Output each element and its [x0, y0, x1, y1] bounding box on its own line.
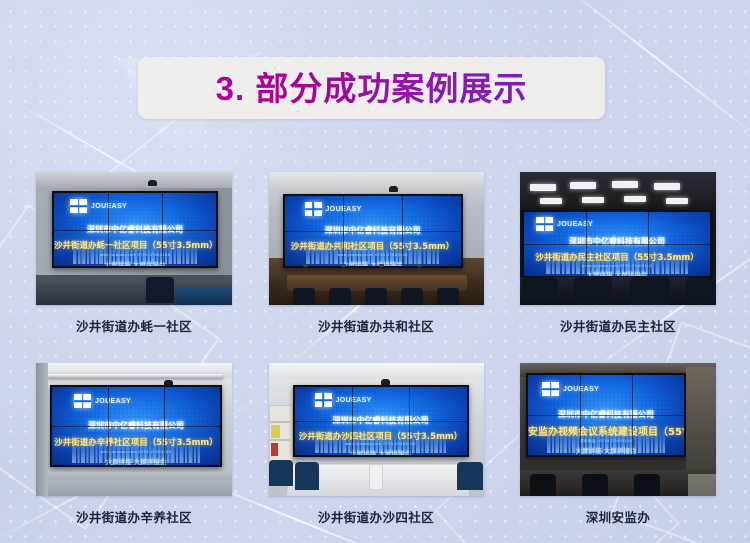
slide-contact: www.joueasy.com 0755-27403100 [52, 450, 220, 454]
chair [146, 277, 174, 303]
chair [437, 288, 459, 305]
chair [293, 288, 315, 305]
video-wall-slide: JOUEASY 深圳市中亿睿科技有限公司 安监办视频会议系统建设项目（55寸3.… [528, 375, 684, 455]
case-item[interactable]: JOUEASY 深圳市中亿睿科技有限公司 沙井街道办沙四社区项目（55寸3.5m… [269, 363, 484, 526]
case-photo[interactable]: JOUEASY 深圳市中亿睿科技有限公司 沙井街道办蚝一社区项目（55寸3.5m… [36, 172, 232, 305]
case-item[interactable]: JOUEASY 深圳市中亿睿科技有限公司 沙井街道办辛养社区项目（55寸3.5m… [36, 363, 232, 526]
brand-name: JOUEASY [557, 221, 593, 228]
chair [295, 462, 319, 490]
slide-project: 沙井街道办共和社区项目（55寸3.5mm） [285, 240, 461, 252]
video-wall-slide: JOUEASY 深圳市中亿睿科技有限公司 沙井街道办共和社区项目（55寸3.5m… [285, 196, 461, 266]
slide-tagline: 大屏拼接 大屏拼接会 [524, 269, 710, 276]
slide-project: 沙井街道办沙四社区项目（55寸3.5mm） [295, 430, 467, 442]
slide-contact: www.joueasy.com 0755-27403100 [54, 253, 216, 257]
case-item[interactable]: JOUEASY 深圳市中亿睿科技有限公司 沙井街道办蚝一社区项目（55寸3.5m… [36, 172, 232, 335]
case-photo[interactable]: JOUEASY 深圳市中亿睿科技有限公司 沙井街道办民主社区项目（55寸3.5m… [520, 172, 716, 305]
case-item[interactable]: JOUEASY 深圳市中亿睿科技有限公司 安监办视频会议系统建设项目（55寸3.… [520, 363, 716, 526]
chair [530, 474, 556, 496]
chair [574, 277, 612, 303]
case-photo[interactable]: JOUEASY 深圳市中亿睿科技有限公司 沙井街道办辛养社区项目（55寸3.5m… [36, 363, 232, 496]
case-caption: 沙井街道办蚝一社区 [36, 316, 232, 335]
slide-company: 深圳市中亿睿科技有限公司 [524, 236, 710, 247]
chair [686, 277, 716, 303]
joueasy-logo-icon [74, 394, 91, 408]
case-caption: 沙井街道办共和社区 [269, 316, 484, 335]
case-caption: 深圳安监办 [520, 507, 716, 526]
chair [457, 462, 483, 490]
video-wall-slide: JOUEASY 深圳市中亿睿科技有限公司 沙井街道办民主社区项目（55寸3.5m… [524, 212, 710, 276]
slide-tagline: 大屏拼接 大屏拼接会 [52, 456, 220, 465]
table [176, 287, 232, 305]
joueasy-logo-icon [305, 202, 322, 216]
slide-contact: 联系电话：0755-27403100 [528, 439, 684, 444]
slide-tagline: 大屏拼接 大屏拼接会 [295, 448, 467, 455]
case-photo[interactable]: JOUEASY 深圳市中亿睿科技有限公司 沙井街道办共和社区项目（55寸3.5m… [269, 172, 484, 305]
video-wall-slide: JOUEASY 深圳市中亿睿科技有限公司 沙井街道办蚝一社区项目（55寸3.5m… [54, 193, 216, 266]
slide-tagline: 大屏拼接 大屏拼接会 [285, 259, 461, 266]
chair [582, 474, 608, 496]
joueasy-logo-icon [536, 217, 553, 231]
slide-project: 安监办视频会议系统建设项目（55寸3.5mm） [528, 423, 684, 438]
gallery-row: JOUEASY 深圳市中亿睿科技有限公司 沙井街道办蚝一社区项目（55寸3.5m… [36, 172, 716, 335]
tabletop-device [369, 464, 383, 490]
slide-tagline: 大屏拼接 大屏拼接会 [528, 445, 684, 455]
joueasy-logo-icon [70, 199, 87, 213]
chair [401, 288, 423, 305]
chair [634, 474, 660, 496]
chair [269, 460, 293, 486]
slide-contact: www.joueasy.com 0755-27403100 [285, 253, 461, 257]
case-caption: 沙井街道办沙四社区 [269, 507, 484, 526]
case-item[interactable]: JOUEASY 深圳市中亿睿科技有限公司 沙井街道办民主社区项目（55寸3.5m… [520, 172, 716, 335]
slide-tagline: 大屏拼接 大屏拼接会 [54, 259, 216, 266]
case-caption: 沙井街道办民主社区 [520, 316, 716, 335]
brand-name: JOUEASY [563, 386, 599, 393]
slide-project: 沙井街道办民主社区项目（55寸3.5mm） [524, 251, 710, 263]
brand-name: JOUEASY [95, 398, 131, 405]
slide-contact: www.joueasy.com 0755-27403100 [524, 264, 710, 268]
video-wall-slide: JOUEASY 深圳市中亿睿科技有限公司 沙井街道办沙四社区项目（55寸3.5m… [295, 387, 467, 455]
chair [365, 288, 387, 305]
video-wall-slide: JOUEASY 深圳市中亿睿科技有限公司 沙井街道办辛养社区项目（55寸3.5m… [52, 387, 220, 465]
brand-name: JOUEASY [336, 397, 372, 404]
section-title-card: 3. 部分成功案例展示 [138, 57, 605, 119]
slide-project: 沙井街道办蚝一社区项目（55寸3.5mm） [54, 239, 216, 251]
slide-project: 沙井街道办辛养社区项目（55寸3.5mm） [52, 436, 220, 448]
joueasy-logo-icon [315, 393, 332, 407]
case-photo[interactable]: JOUEASY 深圳市中亿睿科技有限公司 沙井街道办沙四社区项目（55寸3.5m… [269, 363, 484, 496]
brand-name: JOUEASY [91, 203, 127, 210]
slide-contact: www.joueasy.com 0755-27403100 [295, 442, 467, 446]
case-caption: 沙井街道办辛养社区 [36, 507, 232, 526]
chair [329, 288, 351, 305]
case-photo[interactable]: JOUEASY 深圳市中亿睿科技有限公司 安监办视频会议系统建设项目（55寸3.… [520, 363, 716, 496]
page-title: 3. 部分成功案例展示 [216, 72, 528, 105]
joueasy-logo-icon [542, 382, 559, 396]
chair [522, 277, 558, 301]
gallery-row: JOUEASY 深圳市中亿睿科技有限公司 沙井街道办辛养社区项目（55寸3.5m… [36, 363, 716, 526]
chair [630, 277, 670, 305]
case-item[interactable]: JOUEASY 深圳市中亿睿科技有限公司 沙井街道办共和社区项目（55寸3.5m… [269, 172, 484, 335]
